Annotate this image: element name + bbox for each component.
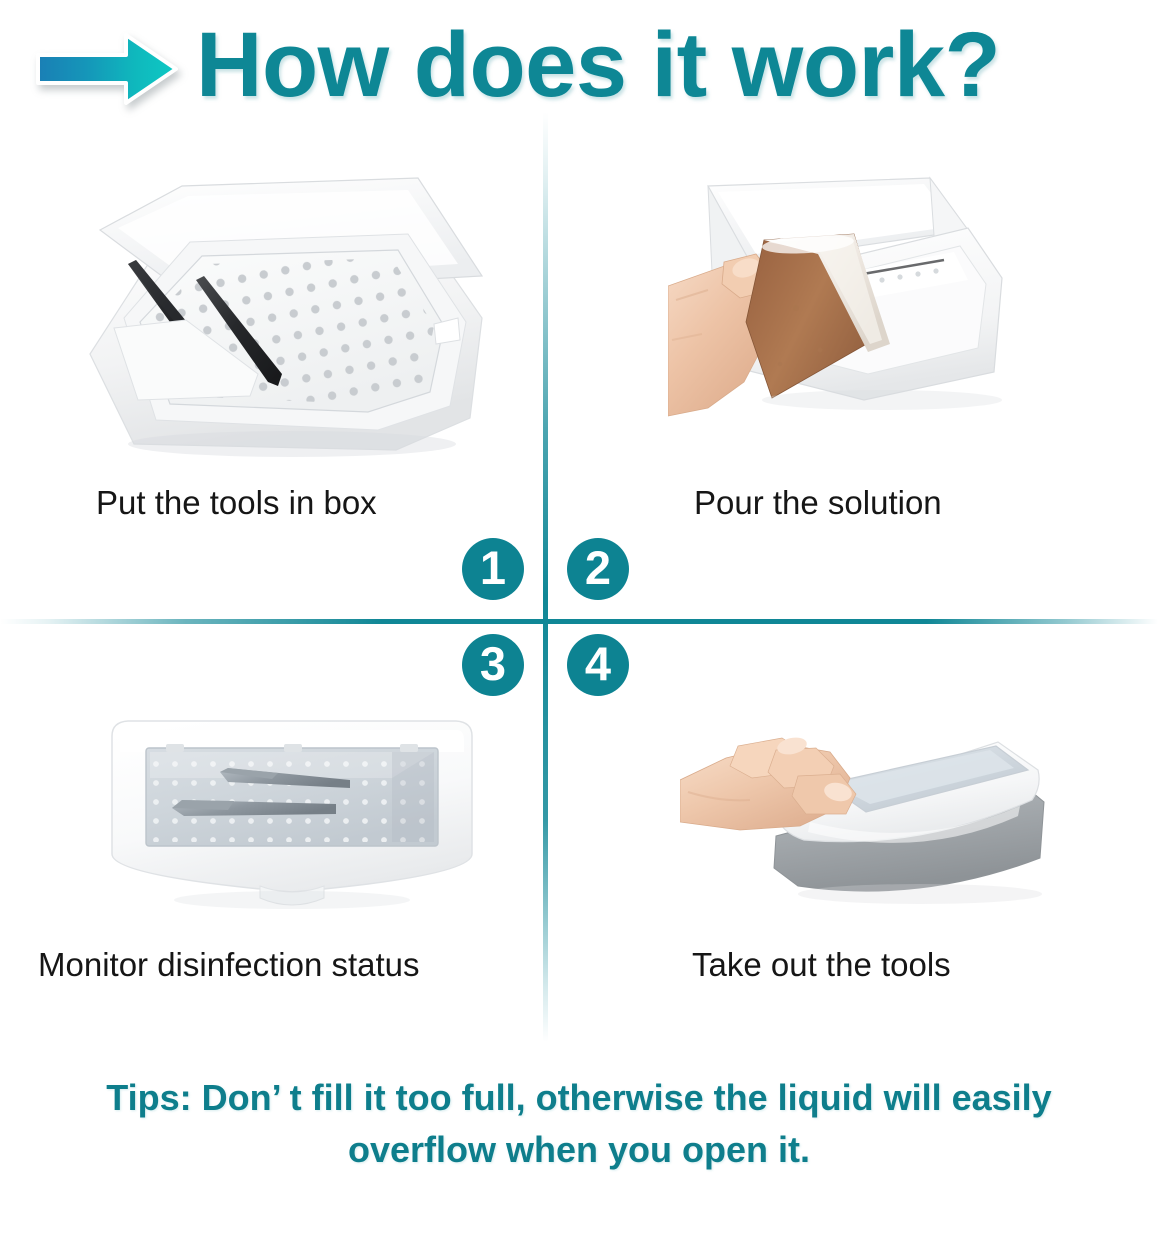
vertical-divider bbox=[543, 112, 548, 1042]
arrow-right-icon bbox=[34, 32, 180, 106]
horizontal-divider bbox=[0, 619, 1158, 624]
step-number-badge-4: 4 bbox=[567, 634, 629, 696]
tips-note: Tips: Don’ t fill it too full, otherwise… bbox=[0, 1072, 1158, 1176]
step-number-badge-2: 2 bbox=[567, 538, 629, 600]
tips-line-1: Tips: Don’ t fill it too full, otherwise… bbox=[26, 1072, 1132, 1124]
step-photo-1 bbox=[78, 168, 498, 468]
step-number-1: 1 bbox=[480, 544, 506, 591]
step-caption-3: Monitor disinfection status bbox=[38, 944, 420, 986]
step-photo-2 bbox=[668, 168, 1088, 468]
step-photo-4 bbox=[680, 718, 1080, 950]
header: How does it work? bbox=[0, 0, 1158, 128]
step-number-badge-3: 3 bbox=[462, 634, 524, 696]
step-caption-1: Put the tools in box bbox=[96, 482, 377, 524]
tips-line-2: overflow when you open it. bbox=[26, 1124, 1132, 1176]
step-caption-4: Take out the tools bbox=[692, 944, 951, 986]
infographic-page: How does it work? bbox=[0, 0, 1158, 1249]
page-title: How does it work? bbox=[196, 6, 1000, 124]
step-number-3: 3 bbox=[480, 640, 506, 687]
step-number-2: 2 bbox=[585, 544, 611, 591]
step-caption-2: Pour the solution bbox=[694, 482, 942, 524]
step-photo-3 bbox=[92, 700, 492, 930]
step-number-badge-1: 1 bbox=[462, 538, 524, 600]
step-number-4: 4 bbox=[585, 640, 611, 687]
